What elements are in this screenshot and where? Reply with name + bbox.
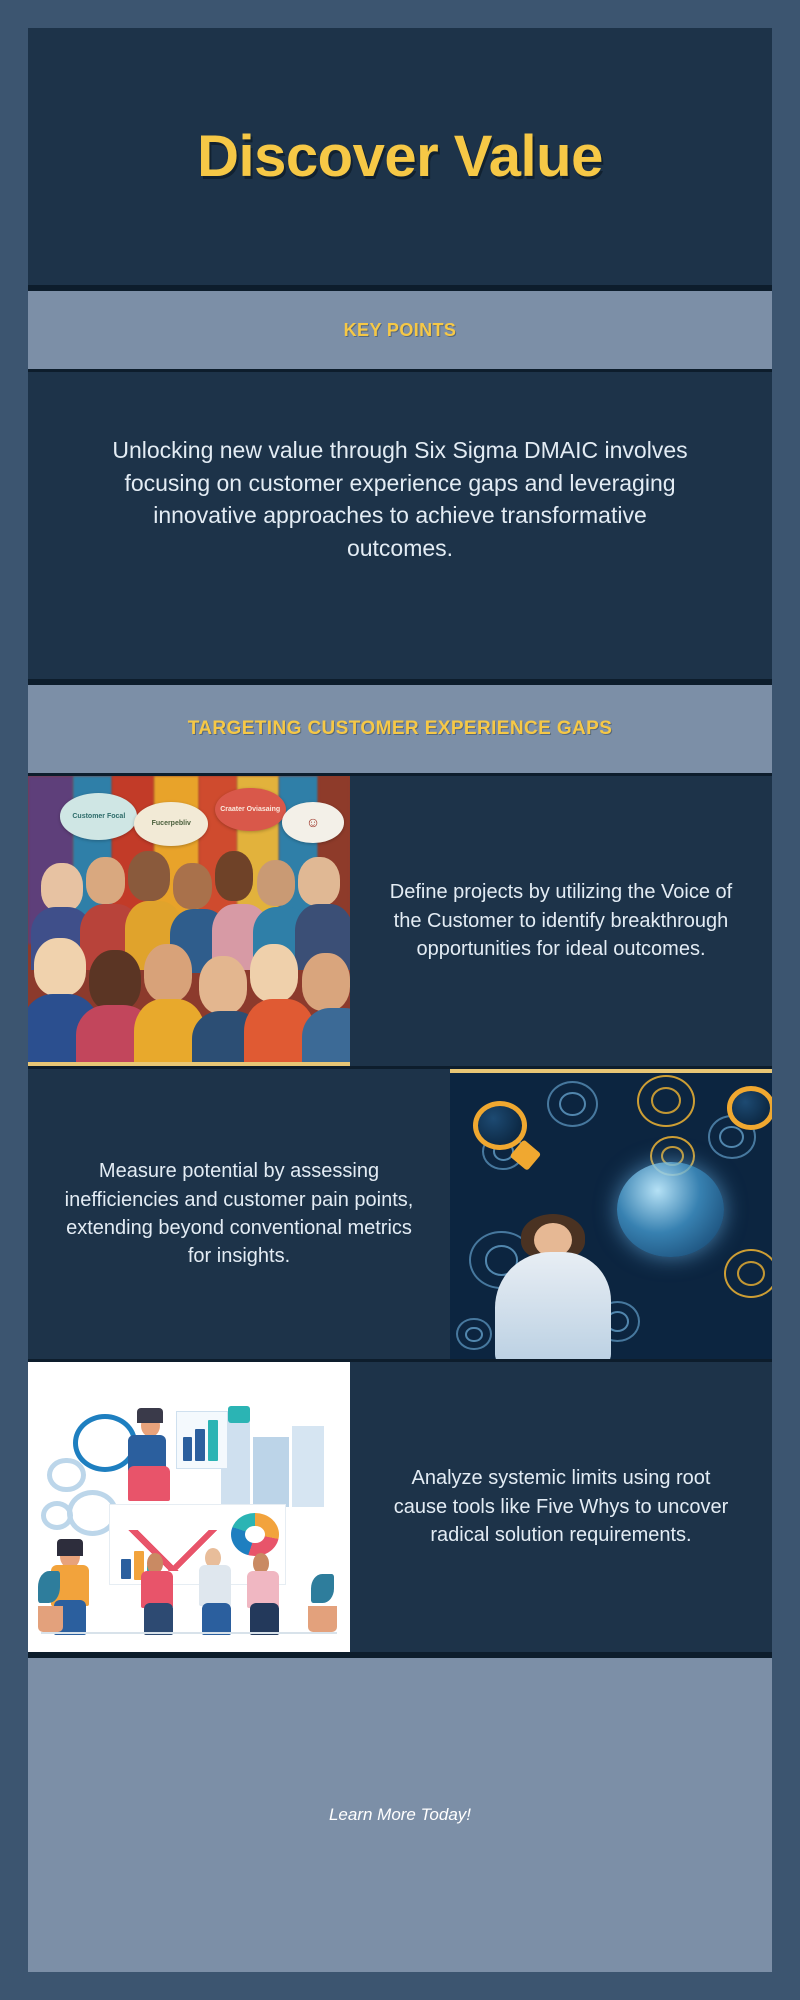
speech-bubble-3: Craater Oviasaing bbox=[215, 788, 286, 832]
call-to-action-text[interactable]: Learn More Today! bbox=[329, 1805, 471, 1825]
row-text-define: Define projects by utilizing the Voice o… bbox=[350, 776, 772, 1066]
row-text: Measure potential by assessing inefficie… bbox=[62, 1157, 416, 1271]
content-row-analyze: Analyze systemic limits using root cause… bbox=[28, 1362, 772, 1655]
infographic-poster: Discover Value KEY POINTS Unlocking new … bbox=[28, 28, 772, 1972]
speech-bubble-text: Craater Oviasaing bbox=[220, 806, 280, 814]
content-row-define: Customer Focal Fucerpebliv Craater Ovias… bbox=[28, 776, 772, 1069]
section-band-targeting-gaps: TARGETING CUSTOMER EXPERIENCE GAPS bbox=[28, 682, 772, 776]
speech-bubble-1: Customer Focal bbox=[60, 793, 137, 839]
title-block: Discover Value bbox=[28, 28, 772, 288]
magnifier-icon bbox=[727, 1086, 772, 1130]
row-text-analyze: Analyze systemic limits using root cause… bbox=[350, 1362, 772, 1652]
intro-paragraph-block: Unlocking new value through Six Sigma DM… bbox=[28, 372, 772, 682]
row-text-measure: Measure potential by assessing inefficie… bbox=[28, 1069, 450, 1359]
speech-bubble-text: Customer Focal bbox=[72, 813, 125, 821]
crowd-speech-bubbles-illustration: Customer Focal Fucerpebliv Craater Ovias… bbox=[28, 776, 350, 1066]
content-row-measure: Measure potential by assessing inefficie… bbox=[28, 1069, 772, 1362]
gears-magnifier-discovery-illustration bbox=[450, 1069, 772, 1359]
donut-chart bbox=[231, 1513, 279, 1557]
intro-paragraph: Unlocking new value through Six Sigma DM… bbox=[102, 434, 698, 565]
flat-business-analytics-illustration bbox=[28, 1362, 350, 1652]
speech-bubble-4: ☺ bbox=[282, 802, 343, 843]
band-label-key-points: KEY POINTS bbox=[344, 320, 457, 341]
row-text: Define projects by utilizing the Voice o… bbox=[384, 878, 738, 963]
row-text: Analyze systemic limits using root cause… bbox=[384, 1464, 738, 1549]
footer-cta-band[interactable]: Learn More Today! bbox=[28, 1655, 772, 1972]
glowing-orb bbox=[617, 1162, 723, 1258]
speech-bubble-2: Fucerpebliv bbox=[134, 802, 208, 846]
gold-accent-line bbox=[28, 1062, 350, 1066]
speech-bubble-text: Fucerpebliv bbox=[152, 820, 191, 828]
gold-accent-line bbox=[450, 1069, 772, 1073]
section-band-key-points: KEY POINTS bbox=[28, 288, 772, 372]
band-label-targeting-gaps: TARGETING CUSTOMER EXPERIENCE GAPS bbox=[188, 718, 613, 740]
page-title: Discover Value bbox=[197, 123, 603, 190]
